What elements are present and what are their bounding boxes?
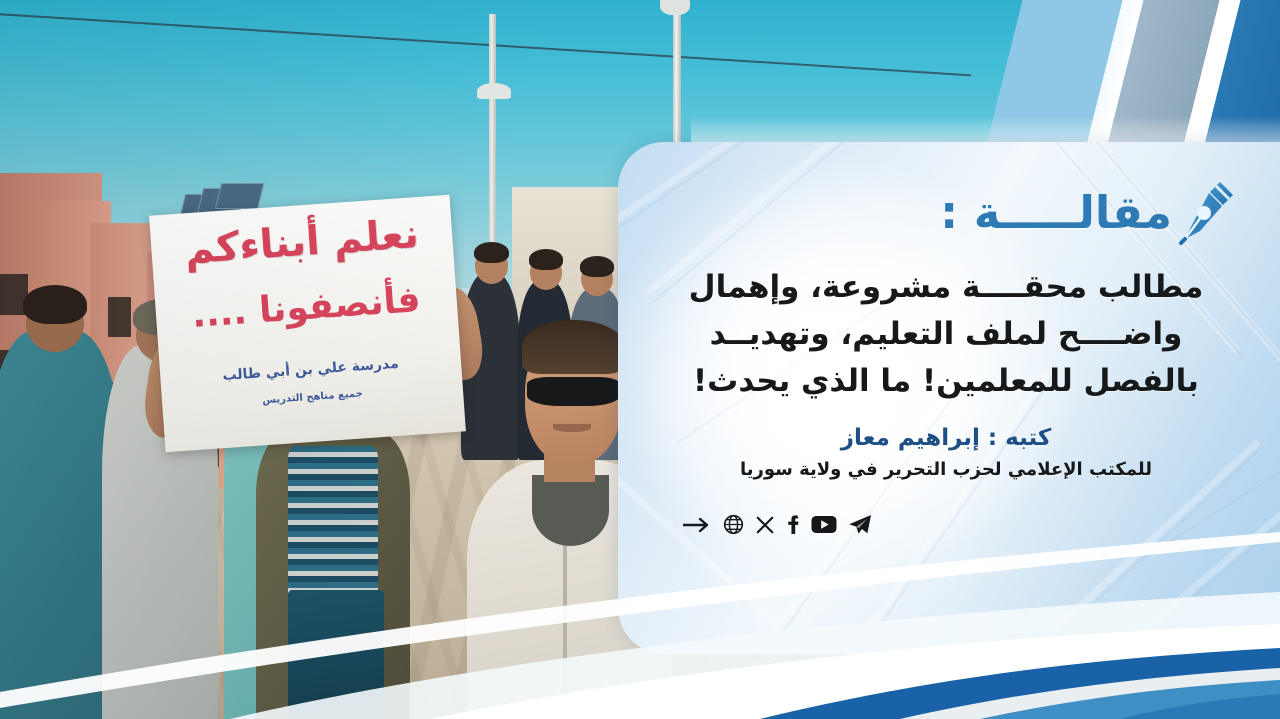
social-links-row [658, 514, 1234, 539]
headline-line-2: واضــــح لملف التعليم، وتهديــد [658, 311, 1234, 358]
arrow-right-icon [682, 516, 712, 538]
poster-canvas: نعلم أبناءكم فأنصفونا .... مدرسة علي بن … [0, 0, 1280, 719]
article-affiliation: للمكتب الإعلامي لحزب التحرير في ولاية سو… [658, 459, 1234, 480]
article-byline: كتبه : إبراهيم معاز [658, 425, 1234, 451]
fountain-pen-nib-icon [1176, 179, 1236, 245]
top-diagonal-stripes [691, 0, 1280, 165]
globe-icon[interactable] [723, 514, 744, 539]
card-header: مقالـــــة : [658, 176, 1234, 248]
article-card: مقالـــــة : مطالب محقــــة مشروعة، وإهم… [618, 142, 1280, 654]
facebook-icon[interactable] [786, 514, 800, 539]
telegram-icon[interactable] [848, 514, 872, 539]
card-title: مقالـــــة : [940, 186, 1172, 239]
headline-line-1: مطالب محقــــة مشروعة، وإهمال [658, 264, 1234, 311]
headline-line-3: بالفصل للمعلمين! ما الذي يحدث! [658, 358, 1234, 405]
article-headline: مطالب محقــــة مشروعة، وإهمال واضــــح ل… [658, 264, 1234, 405]
youtube-icon[interactable] [811, 515, 837, 538]
x-twitter-icon[interactable] [755, 515, 775, 539]
